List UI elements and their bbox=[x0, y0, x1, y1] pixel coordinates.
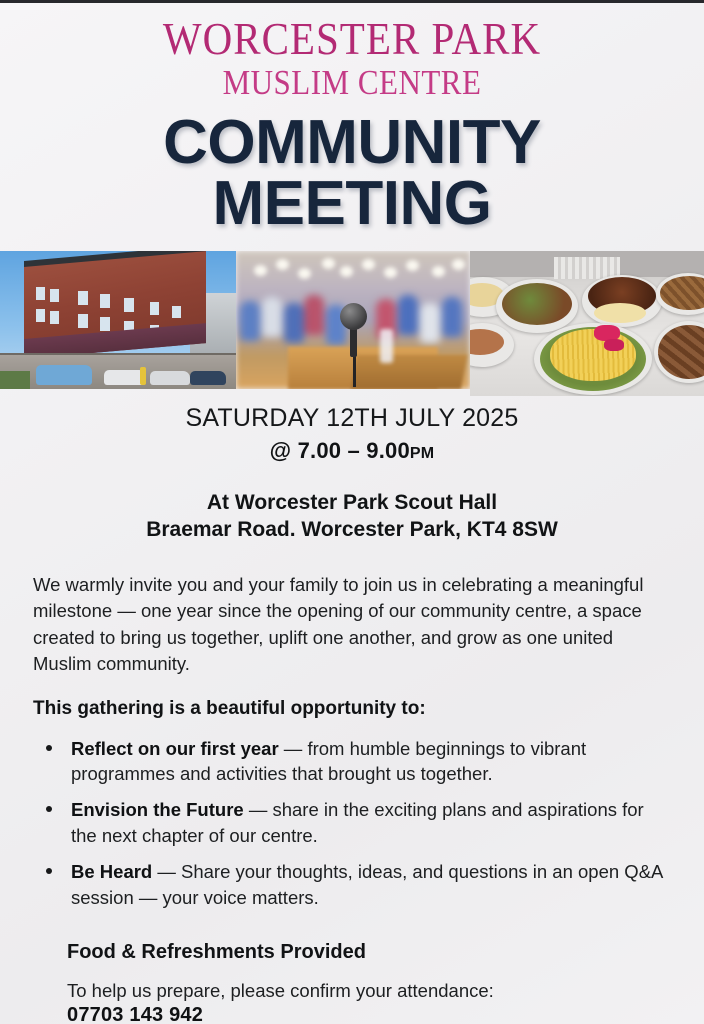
opportunity-lead: This gathering is a beautiful opportunit… bbox=[33, 698, 671, 720]
window bbox=[100, 294, 110, 308]
food-note: Food & Refreshments Provided bbox=[67, 941, 671, 964]
event-time-range: @ 7.00 – 9.00 bbox=[270, 438, 410, 463]
list-item: Reflect on our first year — from humble … bbox=[33, 736, 671, 788]
list-item-heading: Be Heard bbox=[71, 861, 152, 882]
grass-verge bbox=[0, 371, 30, 389]
window bbox=[78, 291, 88, 305]
status-bar-sliver bbox=[0, 0, 704, 3]
noodles bbox=[550, 329, 636, 381]
window bbox=[124, 298, 134, 312]
event-time: @ 7.00 – 9.00PM bbox=[0, 438, 704, 464]
opportunity-list: Reflect on our first year — from humble … bbox=[33, 736, 671, 911]
page-title: COMMUNITY MEETING bbox=[0, 112, 704, 235]
flyer-poster: WORCESTER PARK MUSLIM CENTRE COMMUNITY M… bbox=[0, 0, 704, 1024]
venue-name: At Worcester Park Scout Hall bbox=[0, 490, 704, 517]
garnish bbox=[604, 339, 624, 351]
podium-side bbox=[351, 355, 467, 389]
invitation-paragraph: We warmly invite you and your family to … bbox=[33, 572, 671, 678]
window bbox=[150, 302, 159, 315]
list-item-text: — Share your thoughts, ideas, and questi… bbox=[71, 861, 662, 908]
flyer-header: WORCESTER PARK MUSLIM CENTRE COMMUNITY M… bbox=[0, 0, 704, 235]
window bbox=[36, 309, 45, 322]
list-item: Be Heard — Share your thoughts, ideas, a… bbox=[33, 859, 671, 911]
event-date: SATURDAY 12TH JULY 2025 bbox=[0, 404, 704, 433]
event-time-meridiem: PM bbox=[410, 445, 434, 462]
body-text-region: We warmly invite you and your family to … bbox=[0, 572, 704, 1024]
window bbox=[50, 311, 59, 324]
community-centre-building-photo bbox=[0, 251, 236, 389]
rsvp-text: To help us prepare, please confirm your … bbox=[67, 980, 671, 1002]
list-item: Envision the Future — share in the excit… bbox=[33, 797, 671, 849]
bollard bbox=[140, 367, 146, 385]
logo-line-1: WORCESTER PARK bbox=[0, 16, 704, 62]
venue-block: At Worcester Park Scout Hall Braemar Roa… bbox=[0, 490, 704, 544]
water-bottle bbox=[380, 329, 393, 363]
parked-car bbox=[150, 371, 190, 385]
venue-address: Braemar Road. Worcester Park, KT4 8SW bbox=[0, 517, 704, 544]
contact-phone-number[interactable]: 07703 143 942 bbox=[67, 1004, 671, 1024]
window bbox=[78, 314, 88, 328]
food-item bbox=[594, 303, 646, 323]
logo-line-2: MUSLIM CENTRE bbox=[0, 65, 704, 100]
food-item bbox=[502, 283, 572, 325]
photo-strip bbox=[0, 251, 704, 396]
parked-car bbox=[36, 365, 92, 385]
microphone-icon bbox=[340, 303, 367, 330]
food-platters-photo bbox=[470, 251, 704, 396]
flyer-content: SATURDAY 12TH JULY 2025 @ 7.00 – 9.00PM … bbox=[0, 404, 704, 1024]
date-time-block: SATURDAY 12TH JULY 2025 @ 7.00 – 9.00PM bbox=[0, 404, 704, 464]
parked-car bbox=[190, 371, 226, 385]
organisation-logo: WORCESTER PARK MUSLIM CENTRE bbox=[0, 16, 704, 96]
title-line-1: COMMUNITY bbox=[0, 112, 704, 173]
microphone-body bbox=[350, 327, 357, 357]
window bbox=[50, 289, 59, 302]
window bbox=[172, 306, 181, 318]
list-item-heading: Reflect on our first year bbox=[71, 738, 279, 759]
window bbox=[36, 287, 45, 300]
ceiling-lights bbox=[236, 255, 470, 285]
microphone-podium-photo bbox=[236, 251, 470, 389]
window bbox=[100, 317, 110, 331]
list-item-heading: Envision the Future bbox=[71, 799, 244, 820]
title-line-2: MEETING bbox=[0, 173, 704, 234]
